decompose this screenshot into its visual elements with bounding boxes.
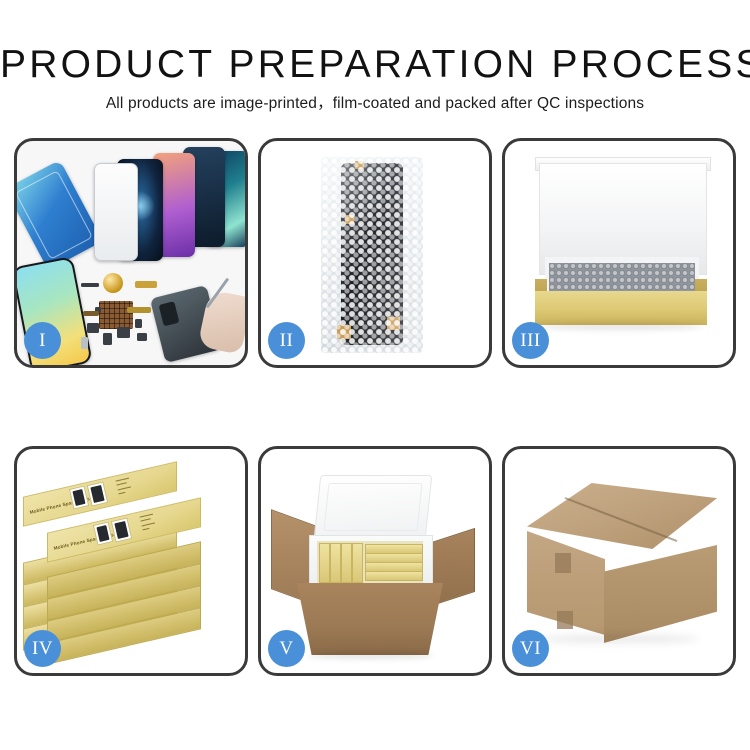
step-panel-1: I [14, 138, 248, 368]
step-badge-2: II [268, 322, 305, 359]
product-preparation-infographic: PRODUCT PREPARATION PROCESS All products… [0, 0, 750, 750]
box-print-text-lines: ▬▬▬▬ ▬▬▬ ▬▬▬▬ ▬▬ [139, 512, 156, 532]
carton-top-face [527, 483, 717, 549]
kraft-box-front [535, 291, 707, 325]
header: PRODUCT PREPARATION PROCESS All products… [0, 0, 750, 114]
flex-cable [83, 311, 99, 316]
small-part [81, 283, 99, 287]
plastic-sheen [321, 157, 423, 353]
small-part [103, 333, 112, 345]
flex-cable [127, 307, 151, 313]
process-steps-grid: I [14, 138, 736, 676]
step-panel-3: III [502, 138, 736, 368]
step-panel-5: V [258, 446, 492, 676]
page-title: PRODUCT PREPARATION PROCESS [0, 0, 750, 88]
yellow-box [330, 543, 341, 583]
box-print-text-lines: ▬▬▬▬ ▬▬▬ ▬▬▬▬ ▬▬ [115, 476, 132, 496]
drop-shadow [539, 635, 699, 643]
adhesive-frame-blue [17, 160, 103, 270]
yellow-box [352, 543, 363, 583]
flex-cable [135, 281, 157, 288]
bubble-wrapped-contents [549, 263, 695, 293]
bubble-wrap-package [321, 157, 423, 353]
page-subtitle: All products are image-printed，film-coat… [0, 88, 750, 114]
carton-tape-lower [557, 611, 573, 629]
carton-body [297, 583, 443, 655]
step-badge-6: VI [512, 630, 549, 667]
yellow-box [341, 543, 352, 583]
drop-shadow [307, 652, 433, 659]
small-part [137, 333, 147, 341]
gold-component [103, 273, 123, 293]
yellow-box [365, 571, 423, 581]
small-part [81, 337, 88, 349]
step-badge-5: V [268, 630, 305, 667]
small-part [135, 319, 142, 328]
step-panel-4: Mobile Phone Spare Parts ▬▬▬▬ ▬▬▬ ▬▬▬▬ ▬… [14, 446, 248, 676]
yellow-box [319, 543, 330, 583]
foam-lid-open [314, 475, 433, 539]
step-panel-6: VI [502, 446, 736, 676]
small-part [87, 323, 99, 333]
step-badge-4: IV [24, 630, 61, 667]
carton-right-face [604, 545, 717, 643]
drop-shadow [539, 323, 703, 330]
connector-grid-chip [99, 301, 133, 329]
step-badge-1: I [24, 322, 61, 359]
carton-tape-upper [555, 553, 571, 573]
boxes-in-foam [317, 541, 423, 583]
phone-front-glass [94, 163, 138, 261]
step-badge-3: III [512, 322, 549, 359]
step-panel-2: II [258, 138, 492, 368]
small-part [117, 327, 130, 338]
